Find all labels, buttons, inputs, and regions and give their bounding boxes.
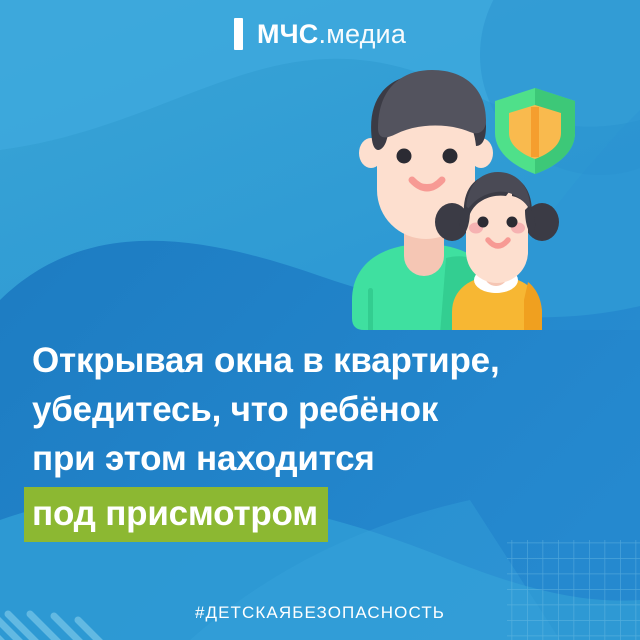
headline-highlight-line: под присмотром [24, 487, 328, 542]
security-shield-icon [495, 88, 575, 174]
vertical-bar-icon [234, 18, 243, 50]
hashtag-text: #ДЕТСКАЯБЕЗОПАСНОСТЬ [0, 603, 640, 623]
brand-name-bold: МЧС [257, 19, 319, 49]
headline-line-2: убедитесь, что ребёнок [32, 385, 502, 434]
father-and-daughter-illustration [0, 0, 640, 640]
headline-line-3: при этом находится [32, 434, 502, 483]
poster-canvas: МЧС.медиа [0, 0, 640, 640]
headline-line-1: Открывая окна в квартире, [32, 336, 502, 385]
headline-block: Открывая окна в квартире, убедитесь, что… [32, 336, 502, 542]
brand-name-light: .медиа [319, 19, 407, 49]
brand-logo: МЧС.медиа [0, 18, 640, 50]
brand-name: МЧС.медиа [257, 21, 406, 48]
